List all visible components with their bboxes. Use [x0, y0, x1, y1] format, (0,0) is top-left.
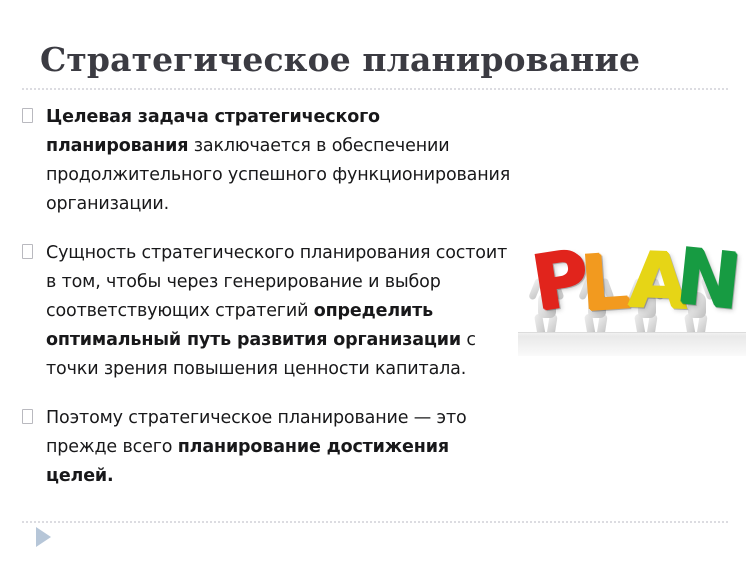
next-slide-arrow-icon[interactable] [36, 527, 51, 547]
bullet-2-segment-1: Сущность стратегического планирования со… [46, 243, 507, 321]
plan-stage: P L A N [518, 228, 746, 356]
hollow-box-bullet-icon [22, 409, 33, 424]
bullet-text-2: Сущность стратегического планирования со… [46, 239, 520, 384]
page-title: Стратегическое планирование [40, 40, 700, 80]
title-block: Стратегическое планирование [40, 40, 700, 80]
bullet-text-1: Целевая задача стратегического планирова… [46, 103, 520, 219]
title-divider [22, 88, 728, 90]
list-item: Сущность стратегического планирования со… [20, 239, 520, 384]
bullet-text-3: Поэтому стратегическое планирование — эт… [46, 404, 520, 491]
plan-floor [518, 332, 746, 356]
slide-canvas: Стратегическое планирование Целевая зада… [0, 0, 750, 562]
plan-letter-n-glyph: N [672, 237, 741, 319]
hollow-box-bullet-icon [22, 244, 33, 259]
bullet-list: Целевая задача стратегического планирова… [20, 103, 520, 511]
plan-letter-l-glyph: L [577, 242, 629, 321]
plan-letter-l: L [577, 242, 629, 321]
plan-letter-n: N [672, 237, 741, 319]
list-item: Поэтому стратегическое планирование — эт… [20, 404, 520, 491]
list-item: Целевая задача стратегического планирова… [20, 103, 520, 219]
footer-divider [22, 521, 728, 523]
hollow-box-bullet-icon [22, 108, 33, 123]
plan-illustration: P L A N [518, 228, 746, 356]
